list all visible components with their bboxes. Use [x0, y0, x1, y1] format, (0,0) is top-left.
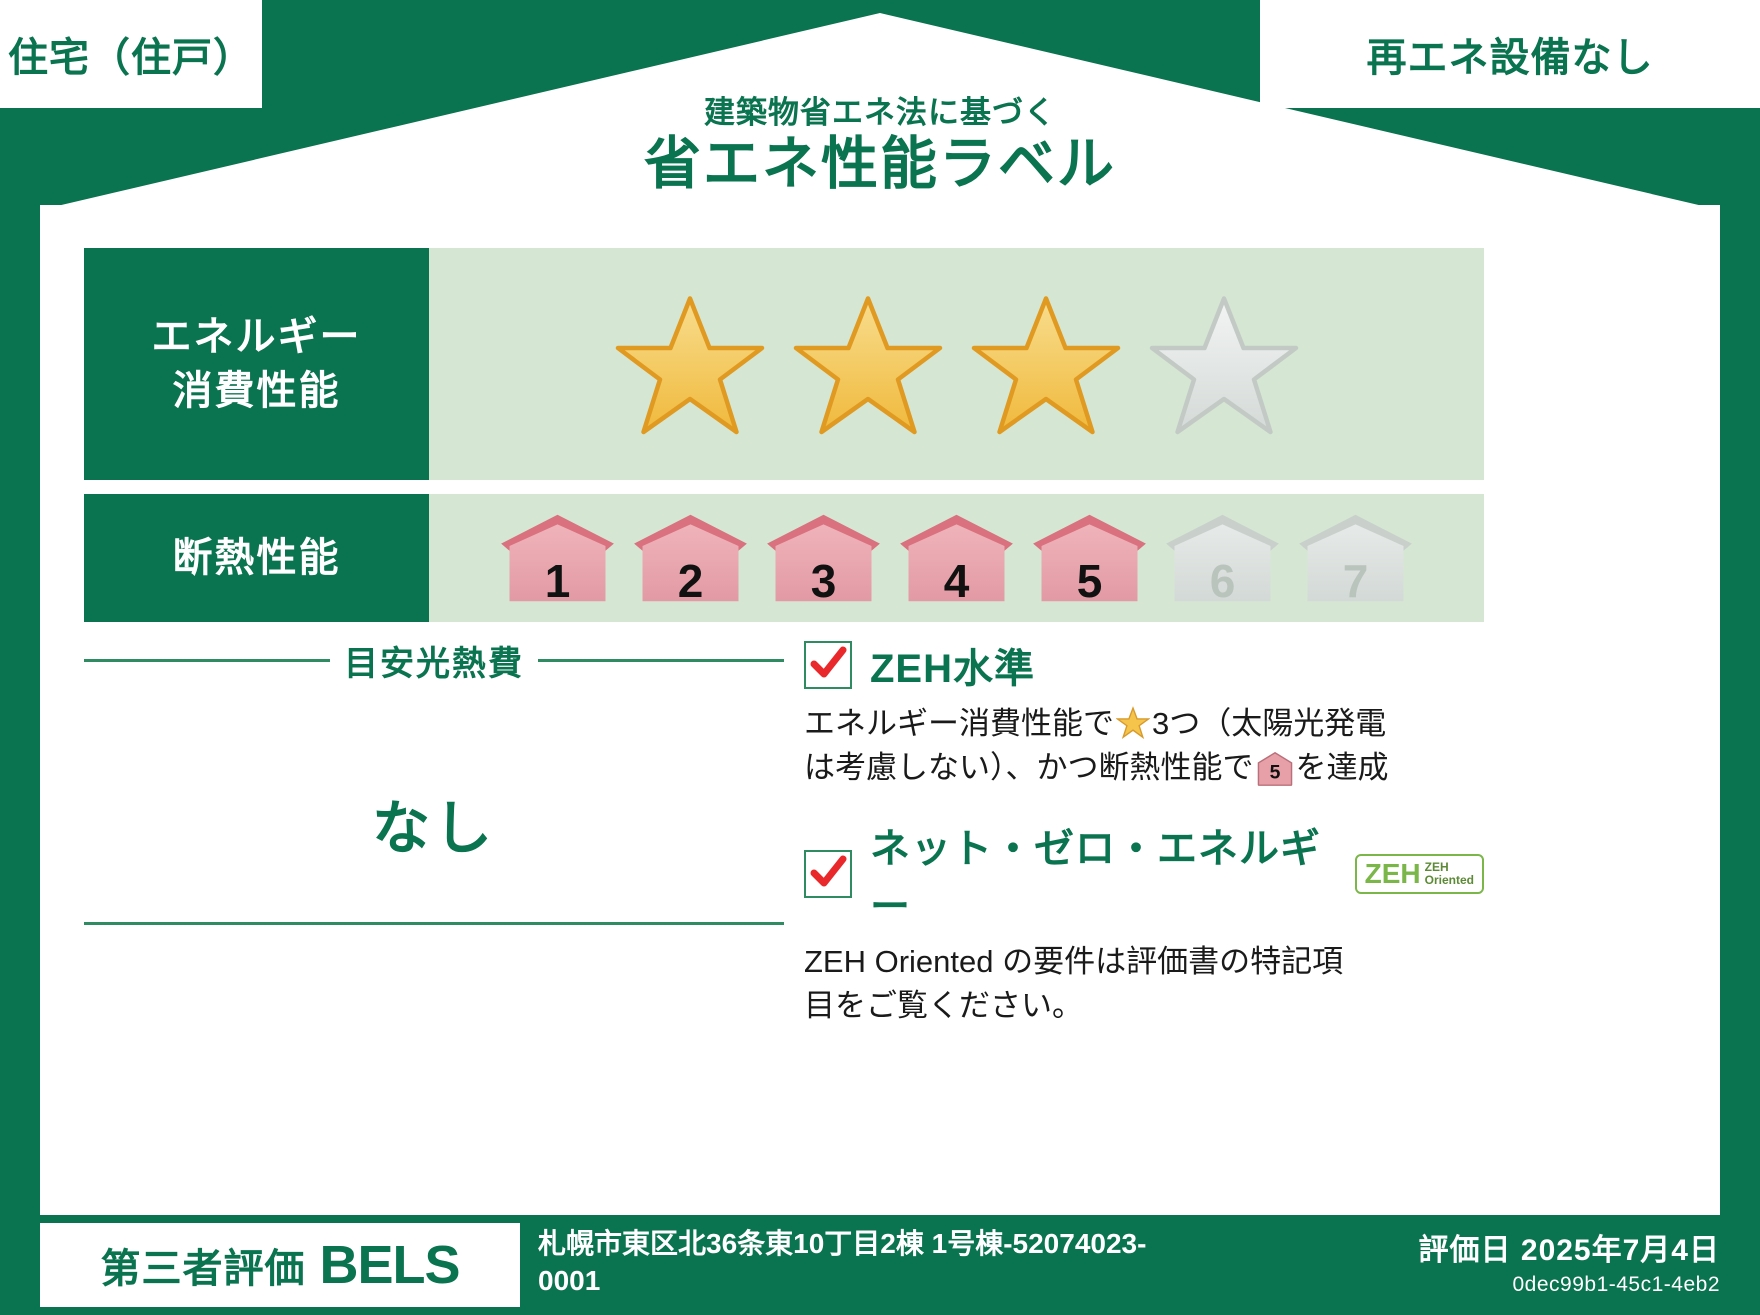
footer-bar: 第三者評価 BELS 札幌市東区北36条東10丁目2棟 1号棟-52074023…	[0, 1215, 1760, 1315]
title-subtitle: 建築物省エネ法に基づく	[0, 96, 1760, 130]
star-rating	[615, 291, 1299, 441]
utility-cost-bottom-rule	[84, 922, 784, 925]
zeh-net-zero-description: ZEH Oriented の要件は評価書の特記項 目をご覧ください。	[804, 940, 1484, 1028]
building-type-chip: 住宅（住戸）	[0, 0, 262, 108]
insulation-level-3: 3	[763, 510, 884, 606]
zeh-standard-title: ZEH水準	[870, 636, 1035, 694]
zeh-net-zero-title: ネット・ゼロ・エネルギー	[870, 816, 1327, 932]
zeh-badge-main: ZEH	[1365, 858, 1421, 890]
third-party-eval-label: 第三者評価	[100, 1236, 305, 1294]
zeh-standard-checkbox[interactable]	[804, 641, 852, 689]
star-filled-icon	[615, 291, 765, 441]
zeh-desc-part2a: は考慮しない）、かつ断熱性能で	[804, 750, 1254, 785]
zeh-badge-sub2: Oriented	[1425, 874, 1474, 887]
insulation-level-scale: 1234567	[497, 510, 1416, 606]
evaluation-info: 評価日 2025年7月4日 0dec99b1-45c1-4eb2	[1419, 1225, 1720, 1297]
insulation-level-number: 5	[1029, 554, 1150, 608]
utility-cost-heading-text: 目安光熱費	[344, 636, 524, 685]
property-address: 札幌市東区北36条東10丁目2棟 1号棟-52074023-0001	[538, 1226, 1178, 1299]
insulation-level-7: 7	[1295, 510, 1416, 606]
utility-cost-heading: 目安光熱費	[84, 636, 784, 685]
insulation-level-number: 1	[497, 554, 618, 608]
utility-cost-value: なし	[84, 781, 784, 865]
zeh-desc-part1: エネルギー消費性能で	[804, 706, 1114, 741]
heading-rule-right	[538, 659, 784, 662]
insulation-level-number: 3	[763, 554, 884, 608]
insulation-level-number: 6	[1162, 554, 1283, 608]
utility-cost-column: 目安光熱費 なし	[84, 636, 784, 1046]
insulation-level-6: 6	[1162, 510, 1283, 606]
energy-performance-body	[429, 248, 1484, 480]
insulation-performance-row: 断熱性能 1234567	[84, 494, 1484, 622]
insulation-level-number: 7	[1295, 554, 1416, 608]
lower-section: 目安光熱費 なし ZEH水準 エネルギー消費性能で3つ（太陽光発電 は考慮しない…	[84, 636, 1484, 1046]
label-title: 建築物省エネ法に基づく 省エネ性能ラベル	[0, 96, 1760, 198]
inline-star-icon	[1116, 706, 1150, 740]
bels-wordmark: BELS	[319, 1234, 459, 1296]
insulation-performance-label: 断熱性能	[84, 494, 429, 622]
zeh-net-zero-checkbox[interactable]	[804, 850, 852, 898]
energy-performance-label: エネルギー 消費性能	[84, 248, 429, 480]
star-filled-icon	[793, 291, 943, 441]
zeh-desc-part2b: を達成	[1296, 750, 1389, 785]
insulation-level-5: 5	[1029, 510, 1150, 606]
zeh-standard-description: エネルギー消費性能で3つ（太陽光発電 は考慮しない）、かつ断熱性能で5を達成	[804, 702, 1484, 798]
insulation-level-1: 1	[497, 510, 618, 606]
energy-label-line1: エネルギー	[152, 310, 362, 364]
insulation-level-4: 4	[896, 510, 1017, 606]
bels-logo-chip: 第三者評価 BELS	[40, 1223, 520, 1307]
evaluation-date: 評価日 2025年7月4日	[1419, 1225, 1720, 1269]
evaluation-id: 0dec99b1-45c1-4eb2	[1419, 1273, 1720, 1297]
energy-label-line2: 消費性能	[173, 364, 341, 418]
zeh2-desc-line2: 目をご覧ください。	[804, 988, 1083, 1023]
zeh2-desc-line1: ZEH Oriented の要件は評価書の特記項	[804, 944, 1343, 979]
insulation-level-number: 2	[630, 554, 751, 608]
zeh-column: ZEH水準 エネルギー消費性能で3つ（太陽光発電 は考慮しない）、かつ断熱性能で…	[784, 636, 1484, 1046]
zeh-desc-starcount: 3つ	[1152, 706, 1200, 741]
insulation-level-number: 4	[896, 554, 1017, 608]
heading-rule-left	[84, 659, 330, 662]
insulation-label-text: 断熱性能	[173, 531, 341, 585]
star-filled-icon	[971, 291, 1121, 441]
zeh-desc-part1b: （太陽光発電	[1200, 706, 1386, 741]
rating-rows: エネルギー 消費性能 断熱性能 1234567	[84, 248, 1484, 636]
star-empty-icon	[1149, 291, 1299, 441]
zeh-standard-line: ZEH水準	[804, 636, 1484, 694]
insulation-performance-body: 1234567	[429, 494, 1484, 622]
title-main: 省エネ性能ラベル	[0, 132, 1760, 198]
zeh-oriented-badge: ZEH ZEH Oriented	[1355, 854, 1484, 894]
zeh-net-zero-line: ネット・ゼロ・エネルギー ZEH ZEH Oriented	[804, 816, 1484, 932]
energy-performance-row: エネルギー 消費性能	[84, 248, 1484, 480]
inline-house-icon: 5	[1257, 758, 1293, 793]
svg-text:5: 5	[1269, 762, 1280, 784]
insulation-level-2: 2	[630, 510, 751, 606]
renewable-energy-chip: 再エネ設備なし	[1260, 0, 1760, 108]
bels-label-root: 住宅（住戸） 再エネ設備なし 建築物省エネ法に基づく 省エネ性能ラベル エネルギ…	[0, 0, 1760, 1315]
